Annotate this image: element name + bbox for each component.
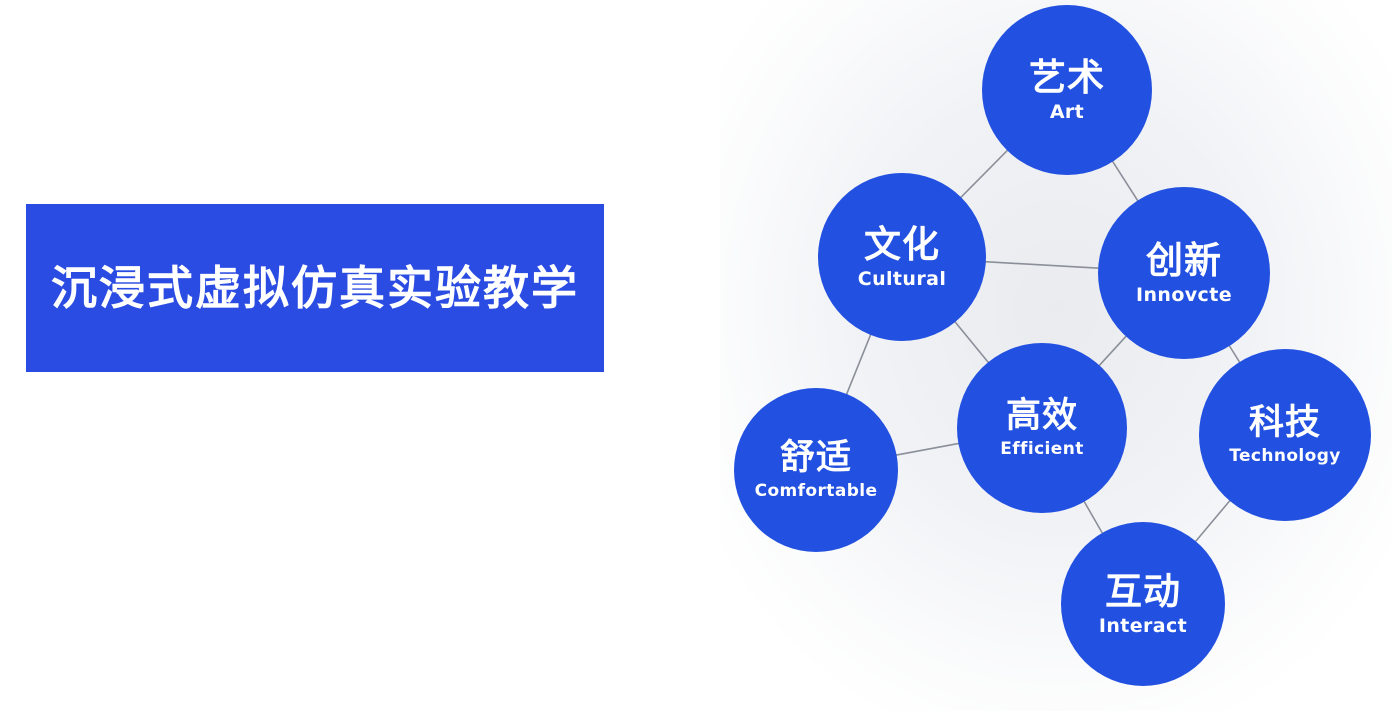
node-label-cn: 创新: [1146, 242, 1222, 279]
node-label-en: Efficient: [1000, 441, 1084, 458]
edge-cultural-comfortable: [846, 334, 871, 395]
node-label-en: Comfortable: [755, 483, 878, 500]
node-technology[interactable]: 科技Technology: [1199, 349, 1371, 521]
edge-art-innovate: [1112, 161, 1138, 202]
edge-innovate-efficient: [1099, 336, 1127, 366]
node-innovate[interactable]: 创新Innovcte: [1098, 187, 1270, 359]
node-comfortable[interactable]: 舒适Comfortable: [734, 388, 898, 552]
node-label-en: Innovcte: [1136, 286, 1232, 305]
edge-cultural-efficient: [955, 321, 989, 363]
node-label-cn: 高效: [1006, 399, 1078, 434]
node-cultural[interactable]: 文化Cultural: [818, 173, 986, 341]
slide-canvas: 沉浸式虚拟仿真实验教学 艺术Art文化Cultural创新Innovcte高效E…: [0, 0, 1392, 711]
node-label-en: Technology: [1229, 448, 1341, 465]
node-label-cn: 文化: [864, 226, 940, 263]
node-label-en: Interact: [1099, 617, 1187, 636]
node-network-diagram: 艺术Art文化Cultural创新Innovcte高效Efficient科技Te…: [0, 0, 1392, 711]
node-label-cn: 艺术: [1029, 59, 1105, 96]
edge-art-cultural: [960, 150, 1008, 198]
node-interact[interactable]: 互动Interact: [1061, 522, 1225, 686]
node-efficient[interactable]: 高效Efficient: [957, 343, 1127, 513]
edge-efficient-interact: [1084, 501, 1103, 534]
edge-comfortable-efficient: [896, 443, 960, 455]
node-label-cn: 科技: [1249, 406, 1321, 441]
node-label-en: Art: [1050, 103, 1084, 122]
node-label-cn: 舒适: [780, 441, 852, 476]
edge-cultural-innovate: [985, 262, 1099, 268]
edge-technology-interact: [1195, 500, 1230, 542]
node-art[interactable]: 艺术Art: [982, 5, 1152, 175]
node-label-cn: 互动: [1105, 573, 1181, 610]
edge-innovate-technology: [1229, 345, 1240, 363]
node-label-en: Cultural: [858, 270, 947, 289]
